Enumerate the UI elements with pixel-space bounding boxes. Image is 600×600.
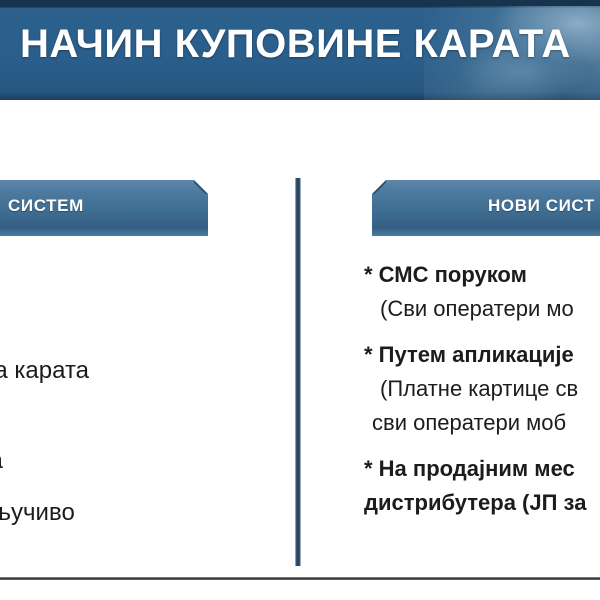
column-divider [295,178,301,566]
new-system-item-continuation: дистрибутера (ЈП за [364,486,600,520]
spacer [0,428,222,442]
new-system-header-label: НОВИ СИСТ [488,196,595,216]
old-system-line: ет портала [0,442,222,480]
new-system-item-heading: * СМС поруком [364,258,600,292]
new-system-text-block: * СМС поруком (Сви оператери мо * Путем … [364,258,600,520]
new-system-item-note: сви оператери моб [364,406,600,440]
new-system-item-note: (Платне картице св [364,372,600,406]
old-system-line: нт Карт-а) [0,390,222,428]
old-system-line: тобуса [0,262,222,300]
spacer [0,480,222,494]
bevel-corner-icon [372,180,386,194]
bottom-divider [0,577,600,580]
old-system-text-block: тобуса местима стрибутера карата нт Карт… [0,262,222,532]
spacer [364,326,600,338]
old-system-line: местима [0,314,222,352]
page-title: НАЧИН КУПОВИНЕ КАРАТА [20,22,571,67]
slide-canvas: НАЧИН КУПОВИНЕ КАРАТА СИСТЕМ НОВИ СИСТ т… [0,0,600,600]
old-system-header-label: СИСТЕМ [8,196,84,216]
old-system-header-button[interactable]: СИСТЕМ [0,180,208,236]
new-system-item-heading: * На продајним мес [364,452,600,486]
spacer [364,440,600,452]
old-system-line: ицом (искључиво [0,494,222,532]
new-system-item-note: (Сви оператери мо [364,292,600,326]
new-system-header-button[interactable]: НОВИ СИСТ [372,180,600,236]
new-system-item-heading: * Путем апликације [364,338,600,372]
spacer [0,300,222,314]
old-system-line: стрибутера карата [0,352,222,390]
bevel-corner-icon [194,180,208,194]
title-banner: НАЧИН КУПОВИНЕ КАРАТА [0,0,600,100]
